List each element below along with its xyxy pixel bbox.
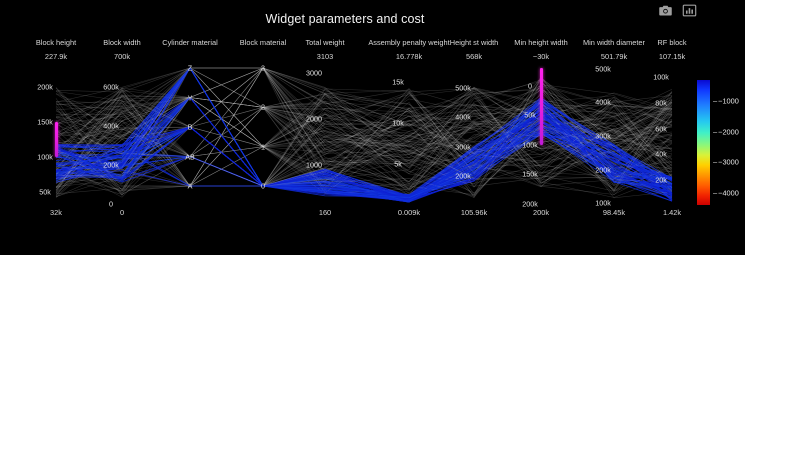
colorbar-tick-label: –−1000 — [713, 97, 739, 106]
axis-brush-track[interactable] — [259, 58, 268, 204]
download-plot-png-button[interactable] — [658, 4, 673, 17]
axis-brush-track[interactable] — [52, 58, 61, 204]
colorbar-tick-label: –−3000 — [713, 158, 739, 167]
screenshot-root: Widget parameters and cost Block height2… — [0, 0, 800, 450]
axis-brush-track[interactable] — [668, 58, 677, 204]
modebar[interactable] — [658, 4, 697, 17]
colorbar-tick-label: –−2000 — [713, 127, 739, 136]
bar-chart-icon-button[interactable] — [682, 4, 697, 17]
axis-brush-track[interactable] — [321, 58, 330, 204]
colorbar[interactable]: –−1000–−2000–−3000–−4000 — [697, 80, 743, 205]
axis-brush-track[interactable] — [186, 58, 195, 204]
axis-brush-track[interactable] — [610, 58, 619, 204]
page-title: Widget parameters and cost — [0, 12, 690, 26]
axis-brush-track[interactable] — [118, 58, 127, 204]
axis-brush-track[interactable] — [470, 58, 479, 204]
parallel-coordinates-plot[interactable]: Widget parameters and cost Block height2… — [0, 0, 745, 255]
axis-brush-track[interactable] — [537, 58, 546, 204]
polyline-canvas — [0, 0, 745, 255]
colorbar-tick-label: –−4000 — [713, 188, 739, 197]
axis-brush-track[interactable] — [405, 58, 414, 204]
colorbar-gradient — [697, 80, 710, 205]
